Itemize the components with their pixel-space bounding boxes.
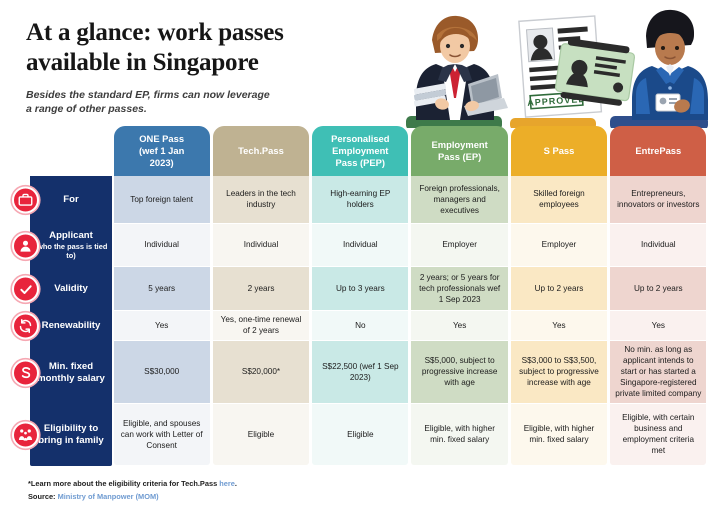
footnote-text: *Learn more about the eligibility criter… xyxy=(28,479,219,488)
cell-salary-employment-pass: S$5,000, subject to progressive increase… xyxy=(411,341,507,403)
column-header-employment-pass[interactable]: Employment Pass (EP) xyxy=(411,126,507,176)
page-subtitle-line2: a range of other passes. xyxy=(26,102,406,116)
briefcase-icon xyxy=(12,187,39,214)
column-header-line: ONE Pass xyxy=(139,133,184,144)
dollar-s-icon xyxy=(12,359,39,386)
row-label-sublabel: (who the pass is tied to) xyxy=(33,243,109,261)
cell-validity-entrepass: Up to 2 years xyxy=(610,267,706,310)
row-label-cell: Eligibility to bring in family xyxy=(14,404,112,466)
page-header: At a glance: work passes available in Si… xyxy=(26,18,406,117)
cell-validity-pep: Up to 3 years xyxy=(312,267,408,310)
cell-validity-tech-pass: 2 years xyxy=(213,267,309,310)
cell-renewability-tech-pass: Yes, one-time renewal of 2 years xyxy=(213,311,309,340)
cell-for-entrepass: Entrepreneurs, innovators or investors xyxy=(610,176,706,223)
cell-family-s-pass: Eligible, with higher min. fixed salary xyxy=(511,404,607,465)
footer-notes: *Learn more about the eligibility criter… xyxy=(28,478,237,503)
cell-renewability-one-pass: Yes xyxy=(114,311,210,340)
row-label: Eligibility to bring in family xyxy=(30,404,112,466)
footnote-period: . xyxy=(235,479,237,488)
column-header-line: Pass (PEP) xyxy=(336,157,386,168)
cell-validity-employment-pass: 2 years; or 5 years for tech professiona… xyxy=(411,267,507,310)
row-label-text: Min. fixed monthly salary xyxy=(33,361,109,384)
column-header-line: Pass (EP) xyxy=(438,151,481,162)
row-label-text: Validity xyxy=(54,283,88,295)
id-card xyxy=(554,37,636,107)
check-icon xyxy=(12,276,39,303)
page-subtitle-line1: Besides the standard EP, firms can now l… xyxy=(26,88,406,102)
cell-for-employment-pass: Foreign professionals, managers and exec… xyxy=(411,176,507,223)
footnote-here-link[interactable]: here xyxy=(219,479,235,488)
cell-renewability-employment-pass: Yes xyxy=(411,311,507,340)
column-header-pep[interactable]: Personalised Employment Pass (PEP) xyxy=(312,126,408,176)
footnote-techpass: *Learn more about the eligibility criter… xyxy=(28,478,237,490)
row-label-text: Renewability xyxy=(42,320,101,332)
cell-salary-tech-pass: S$20,000* xyxy=(213,341,309,403)
column-header-entrepass[interactable]: EntrePass xyxy=(610,126,706,176)
source-label: Source: xyxy=(28,492,58,501)
column-header-line: Employment xyxy=(432,139,488,150)
cell-family-tech-pass: Eligible xyxy=(213,404,309,465)
table-row: Applicant (who the pass is tied to) Indi… xyxy=(14,224,708,267)
table-row: Min. fixed monthly salary S$30,000 S$20,… xyxy=(14,341,708,404)
cell-applicant-one-pass: Individual xyxy=(114,224,210,266)
cell-renewability-pep: No xyxy=(312,311,408,340)
cell-family-entrepass: Eligible, with certain business and empl… xyxy=(610,404,706,465)
cell-for-tech-pass: Leaders in the tech industry xyxy=(213,176,309,223)
work-pass-comparison-table: ONE Pass (wef 1 Jan 2023) Tech.Pass Pers… xyxy=(14,126,708,466)
page-title: At a glance: work passes available in Si… xyxy=(26,18,406,77)
cell-validity-one-pass: 5 years xyxy=(114,267,210,310)
table-row: For Top foreign talent Leaders in the te… xyxy=(14,176,708,224)
cell-applicant-s-pass: Employer xyxy=(511,224,607,266)
cell-validity-s-pass: Up to 2 years xyxy=(511,267,607,310)
businessman-figure xyxy=(414,16,508,120)
woman-figure xyxy=(632,10,708,120)
table-row: Eligibility to bring in family Eligible,… xyxy=(14,404,708,466)
cell-salary-s-pass: S$3,000 to S$3,500, subject to progressi… xyxy=(511,341,607,403)
cell-family-employment-pass: Eligible, with higher min. fixed salary xyxy=(411,404,507,465)
row-label-cell: Min. fixed monthly salary xyxy=(14,341,112,404)
row-label-text: Eligibility to bring in family xyxy=(33,423,109,446)
source-mom-link[interactable]: Ministry of Manpower (MOM) xyxy=(58,492,159,501)
cell-for-pep: High-earning EP holders xyxy=(312,176,408,223)
cell-family-pep: Eligible xyxy=(312,404,408,465)
cell-applicant-employment-pass: Employer xyxy=(411,224,507,266)
column-header-line: 2023) xyxy=(150,157,174,168)
cell-for-one-pass: Top foreign talent xyxy=(114,176,210,223)
row-label-cell: Renewability xyxy=(14,311,112,341)
table-row: Renewability Yes Yes, one-time renewal o… xyxy=(14,311,708,341)
column-header-line: S Pass xyxy=(544,145,575,157)
column-header-line: Personalised xyxy=(331,133,389,144)
column-header-line: EntrePass xyxy=(635,145,681,157)
cell-family-one-pass: Eligible, and spouses can work with Lett… xyxy=(114,404,210,465)
cell-applicant-tech-pass: Individual xyxy=(213,224,309,266)
row-label: Renewability xyxy=(30,311,112,341)
cell-applicant-pep: Individual xyxy=(312,224,408,266)
cell-for-s-pass: Skilled foreign employees xyxy=(511,176,607,223)
cell-salary-one-pass: S$30,000 xyxy=(114,341,210,403)
cell-salary-pep: S$22,500 (wef 1 Sep 2023) xyxy=(312,341,408,403)
column-header-line: Tech.Pass xyxy=(238,145,284,157)
column-header-line: Employment xyxy=(332,145,388,156)
column-header-s-pass[interactable]: S Pass xyxy=(511,126,607,176)
cell-renewability-s-pass: Yes xyxy=(511,311,607,340)
table-row: Validity 5 years 2 years Up to 3 years 2… xyxy=(14,267,708,311)
work-pass-illustration: APPROVED xyxy=(398,2,716,128)
row-label-cell: Applicant (who the pass is tied to) xyxy=(14,224,112,267)
row-label: Validity xyxy=(30,267,112,311)
row-label-cell: For xyxy=(14,176,112,224)
column-header-tech-pass[interactable]: Tech.Pass xyxy=(213,126,309,176)
table-header-row: ONE Pass (wef 1 Jan 2023) Tech.Pass Pers… xyxy=(14,126,708,176)
row-label: Min. fixed monthly salary xyxy=(30,341,112,404)
cell-salary-entrepass: No min. as long as applicant intends to … xyxy=(610,341,706,403)
column-header-line: (wef 1 Jan xyxy=(139,145,184,156)
row-label-cell: Validity xyxy=(14,267,112,311)
page-subtitle: Besides the standard EP, firms can now l… xyxy=(26,88,406,117)
cell-applicant-entrepass: Individual xyxy=(610,224,706,266)
row-label-text: For xyxy=(63,194,78,206)
column-header-one-pass[interactable]: ONE Pass (wef 1 Jan 2023) xyxy=(114,126,210,176)
source-line: Source: Ministry of Manpower (MOM) xyxy=(28,491,237,503)
row-label-text: Applicant xyxy=(49,230,93,242)
refresh-icon xyxy=(12,313,39,340)
page-title-line1: At a glance: work passes xyxy=(26,18,406,48)
row-label: For xyxy=(30,176,112,224)
person-icon xyxy=(12,232,39,259)
cell-renewability-entrepass: Yes xyxy=(610,311,706,340)
family-icon xyxy=(12,422,39,449)
header-corner-spacer xyxy=(14,126,112,176)
row-label: Applicant (who the pass is tied to) xyxy=(30,224,112,267)
page-title-line2: available in Singapore xyxy=(26,48,406,78)
